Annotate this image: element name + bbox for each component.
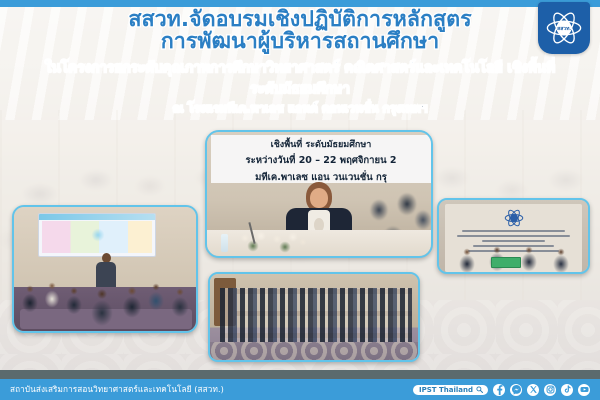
top-accent-bar: [0, 0, 600, 7]
certificate-plaque: [491, 257, 521, 268]
search-icon: [476, 386, 483, 393]
footer-links: IPST Thailand: [413, 384, 590, 396]
workshop-projection-screen: [38, 213, 156, 257]
youtube-icon[interactable]: [578, 384, 590, 396]
backdrop-line: [457, 235, 569, 237]
tiktok-glyph: [562, 384, 573, 395]
footer-divider: [0, 370, 600, 379]
messenger-icon[interactable]: [510, 384, 522, 396]
backdrop-line: [462, 230, 565, 232]
event-poster: สสวท. สสวท.จัดอบรมเชิงปฏิบัติการหลักสูตร…: [0, 0, 600, 400]
award-ceremony-photo: [437, 198, 590, 274]
backdrop-ipst-logo: [504, 208, 524, 232]
water-bottle: [221, 234, 228, 252]
ballroom-carpet: [210, 342, 418, 360]
flower-arrangement: [233, 230, 313, 254]
group-photo: [208, 272, 420, 362]
screen-text-line-1: เชิงพื้นที่ ระดับมัธยมศึกษา: [211, 137, 431, 151]
messenger-glyph: [511, 384, 522, 395]
venue-line: ณ โรงแรมทีเค.พาเลช แอนด์ คอนเวนชั่น กรุง…: [0, 100, 600, 118]
footer-bar: สถาบันส่งเสริมการสอนวิทยาศาสตร์และเทคโนโ…: [0, 379, 600, 400]
backdrop-line: [482, 240, 545, 242]
instagram-icon[interactable]: [544, 384, 556, 396]
title-line-2: การพัฒนาผู้บริหารสถานศึกษา: [0, 30, 600, 54]
subtitle-line-1: ในโครงการยกระดับคุณภาพการศึกษาวิทยาศาสตร…: [0, 56, 600, 78]
workshop-session-photo: [12, 205, 198, 333]
projection-screen: เชิงพื้นที่ ระดับมัธยมศึกษา ระหว่างวันที…: [211, 135, 431, 183]
tiktok-icon[interactable]: [561, 384, 573, 396]
speaker-face: [310, 188, 328, 208]
subtitle-line-2: ระดับมัธยมศึกษา: [0, 77, 600, 99]
x-glyph: [528, 384, 539, 395]
backdrop-atom-icon: [504, 208, 524, 228]
facebook-icon[interactable]: [493, 384, 505, 396]
workshop-participants: [14, 267, 196, 327]
group-attendees: [220, 288, 412, 346]
ipst-thailand-search-badge[interactable]: IPST Thailand: [413, 385, 488, 395]
facebook-glyph: [494, 384, 505, 395]
x-twitter-icon[interactable]: [527, 384, 539, 396]
ipst-search-label: IPST Thailand: [419, 386, 473, 394]
screen-text-line-2: ระหว่างวันที่ 20 – 22 พฤศจิกายน 2: [211, 153, 431, 168]
organization-name: สถาบันส่งเสริมการสอนวิทยาศาสตร์และเทคโนโ…: [10, 383, 224, 396]
instagram-glyph: [545, 384, 556, 395]
podium-speaker-photo: เชิงพื้นที่ ระดับมัธยมศึกษา ระหว่างวันที…: [205, 130, 433, 258]
headline-block: สสวท.จัดอบรมเชิงปฏิบัติการหลักสูตร การพั…: [0, 8, 600, 118]
youtube-glyph: [579, 384, 590, 395]
